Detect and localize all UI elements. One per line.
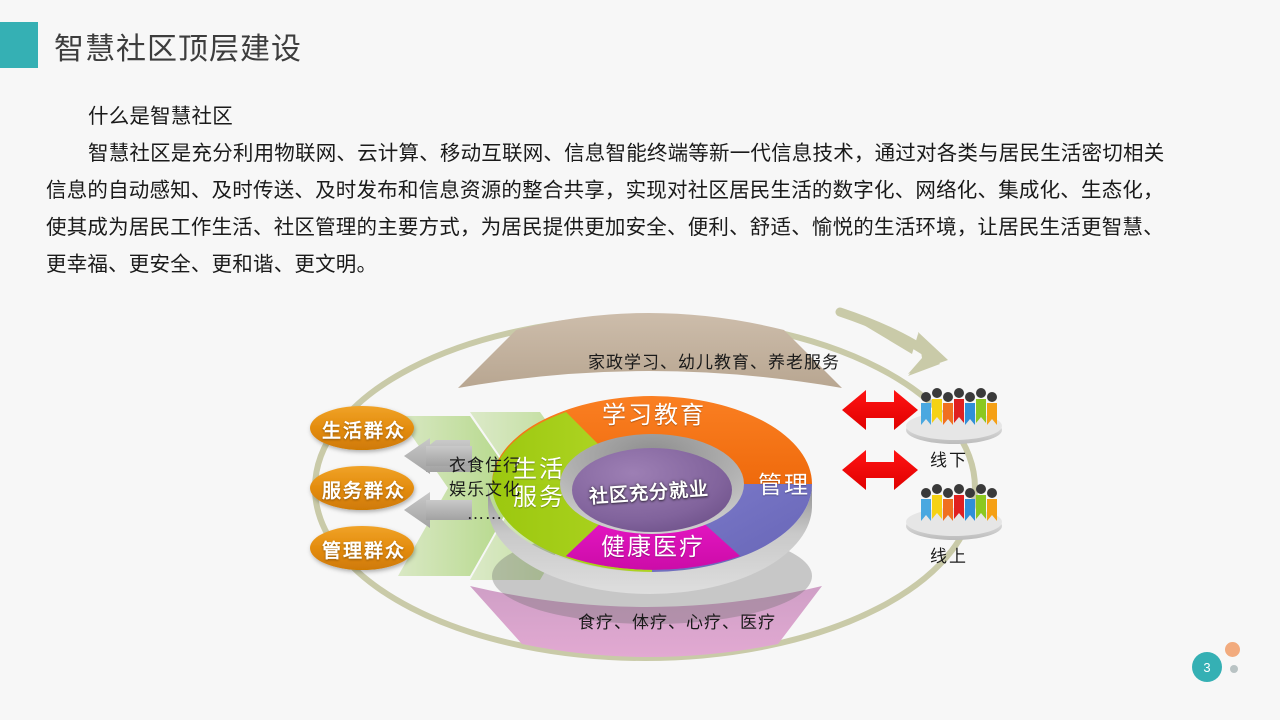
badge-dot-gray-icon [1230, 665, 1238, 673]
red-arrow-lower [842, 450, 918, 490]
page-number-text: 3 [1192, 652, 1222, 682]
hub-ellipse [572, 448, 732, 532]
page-number-badge: 3 [1192, 640, 1252, 692]
pill-life-shape [310, 406, 414, 450]
badge-dot-orange-icon [1225, 642, 1240, 657]
copy-line-1: 智慧社区是充分利用物联网、云计算、移动互联网、信息智能终端等新一代信息技术，通过… [46, 135, 1246, 172]
pill-management-shape [310, 526, 414, 570]
gray-arrow-upper [404, 438, 472, 474]
diagram-graphics [0, 288, 1280, 688]
smart-community-diagram: 家政学习、幼儿教育、养老服务 食疗、体疗、心疗、医疗 学习教育 管理 健康医疗 … [0, 288, 1280, 688]
copy-line-3: 使其成为居民工作生活、社区管理的主要方式，为居民提供更加安全、便利、舒适、愉悦的… [46, 209, 1246, 246]
slide-header: 智慧社区顶层建设 [0, 0, 1280, 80]
page-title: 智慧社区顶层建设 [54, 24, 302, 68]
pill-service-shape [310, 466, 414, 510]
body-copy: 什么是智慧社区 智慧社区是充分利用物联网、云计算、移动互联网、信息智能终端等新一… [46, 98, 1246, 283]
copy-line-4: 更幸福、更安全、更和谐、更文明。 [46, 246, 1246, 283]
title-accent-bar [0, 22, 38, 68]
audience-pills [310, 406, 414, 570]
copy-heading: 什么是智慧社区 [46, 98, 1246, 135]
copy-line-2: 信息的自动感知、及时传送、及时发布和信息资源的整合共享，实现对社区居民生活的数字… [46, 172, 1246, 209]
education-banner-shape [458, 313, 842, 388]
channel-online-group [906, 484, 1002, 540]
